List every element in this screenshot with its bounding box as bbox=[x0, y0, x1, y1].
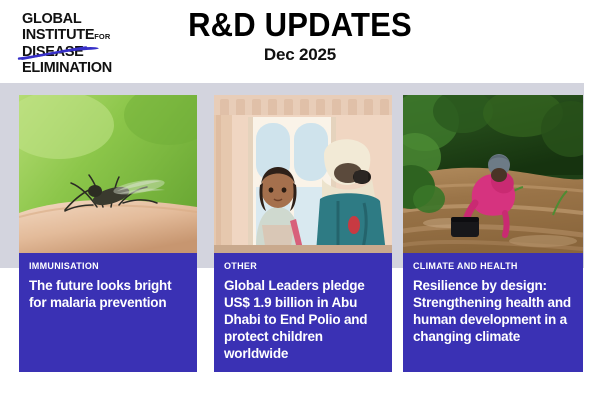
organisation-logo[interactable]: GLOBAL INSTITUTEFOR DISEASE ELIMINATION bbox=[22, 12, 147, 72]
flood-photo-illustration bbox=[403, 95, 583, 253]
card-caption: OTHER Global Leaders pledge US$ 1.9 bill… bbox=[214, 253, 392, 372]
card-kicker: CLIMATE AND HEALTH bbox=[413, 261, 573, 272]
title-block: R&D UPDATES Dec 2025 bbox=[150, 8, 450, 65]
page-title: R&D UPDATES bbox=[159, 8, 441, 42]
update-card[interactable]: OTHER Global Leaders pledge US$ 1.9 bill… bbox=[214, 95, 392, 372]
logo-line-disease: DISEASE bbox=[22, 45, 84, 61]
page-subtitle: Dec 2025 bbox=[150, 45, 450, 65]
card-caption: IMMUNISATION The future looks bright for… bbox=[19, 253, 197, 372]
card-kicker: IMMUNISATION bbox=[29, 261, 187, 272]
update-card[interactable]: CLIMATE AND HEALTH Resilience by design:… bbox=[403, 95, 583, 372]
card-image-child bbox=[214, 95, 392, 253]
page-header: GLOBAL INSTITUTEFOR DISEASE ELIMINATION … bbox=[0, 0, 600, 83]
child-photo-illustration bbox=[214, 95, 392, 253]
mosquito-photo-illustration bbox=[19, 95, 197, 253]
card-headline: The future looks bright for malaria prev… bbox=[29, 277, 187, 311]
card-image-mosquito bbox=[19, 95, 197, 253]
card-image-flood bbox=[403, 95, 583, 253]
card-headline: Global Leaders pledge US$ 1.9 billion in… bbox=[224, 277, 382, 362]
card-caption: CLIMATE AND HEALTH Resilience by design:… bbox=[403, 253, 583, 372]
logo-line-elimination: ELIMINATION bbox=[22, 61, 147, 77]
card-headline: Resilience by design: Strengthening heal… bbox=[413, 277, 573, 345]
logo-line-institute-for: INSTITUTEFOR bbox=[22, 28, 147, 44]
logo-word-disease: DISEASE bbox=[22, 44, 84, 60]
logo-line-global: GLOBAL bbox=[22, 12, 147, 28]
update-card[interactable]: IMMUNISATION The future looks bright for… bbox=[19, 95, 197, 372]
card-kicker: OTHER bbox=[224, 261, 382, 272]
logo-word-institute: INSTITUTE bbox=[22, 27, 94, 43]
logo-word-for: FOR bbox=[94, 32, 110, 41]
